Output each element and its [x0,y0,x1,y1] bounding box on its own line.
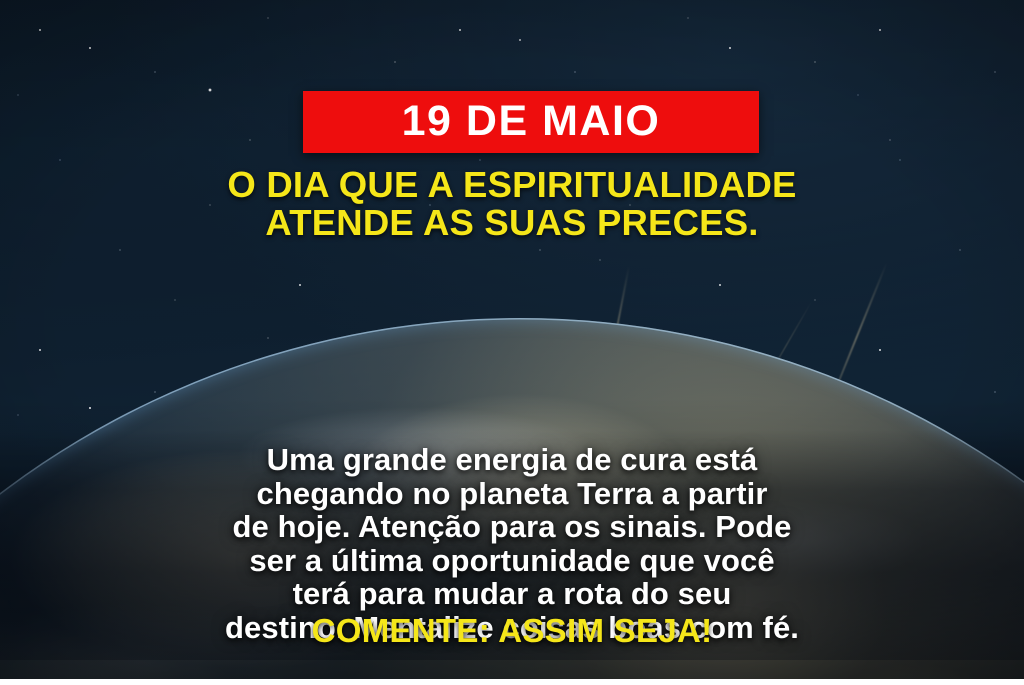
date-banner-text: 19 DE MAIO [402,100,661,143]
body-line-2: chegando no planeta Terra a partir [50,477,974,511]
headline-line-2: ATENDE AS SUAS PRECES. [0,204,1024,242]
date-banner: 19 DE MAIO [303,91,759,153]
body-line-3: de hoje. Atenção para os sinais. Pode [50,510,974,544]
poster-canvas: 19 DE MAIO O DIA QUE A ESPIRITUALIDADE A… [0,0,1024,685]
headline: O DIA QUE A ESPIRITUALIDADE ATENDE AS SU… [0,166,1024,242]
body-line-5: terá para mudar a rota do seu [50,577,974,611]
bottom-white-bar [0,679,1024,685]
body-line-1: Uma grande energia de cura está [50,443,974,477]
poster-content: 19 DE MAIO O DIA QUE A ESPIRITUALIDADE A… [0,0,1024,685]
call-to-action-text: COMENTE: ASSIM SEJA! [0,613,1024,649]
headline-line-1: O DIA QUE A ESPIRITUALIDADE [0,166,1024,204]
body-line-4: ser a última oportunidade que você [50,544,974,578]
